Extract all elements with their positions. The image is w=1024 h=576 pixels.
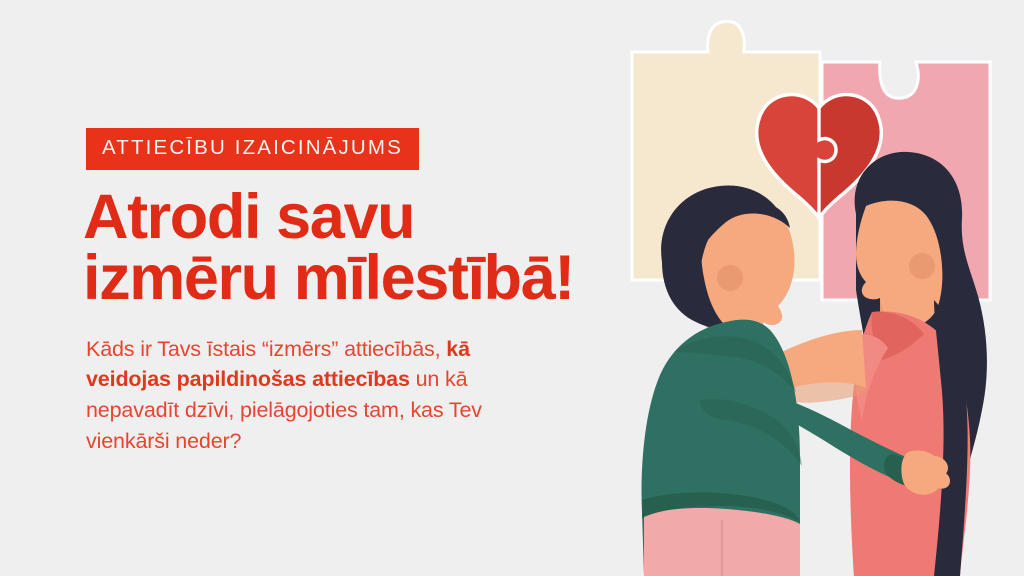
eyebrow-badge: ATTIECĪBU IZAICINĀJUMS [86,128,419,170]
body-segment-1: Kāds ir Tavs īstais “izmērs” attiecībās, [86,337,446,361]
body-paragraph: Kāds ir Tavs īstais “izmērs” attiecībās,… [86,334,556,456]
page-title: Atrodi savu izmēru mīlestībā! [83,187,606,310]
couple-puzzle-heart-illustration [604,0,1024,576]
slide-root: ATTIECĪBU IZAICINĀJUMS Atrodi savu izmēr… [0,0,1024,576]
text-content-column: ATTIECĪBU IZAICINĀJUMS Atrodi savu izmēr… [86,128,606,456]
